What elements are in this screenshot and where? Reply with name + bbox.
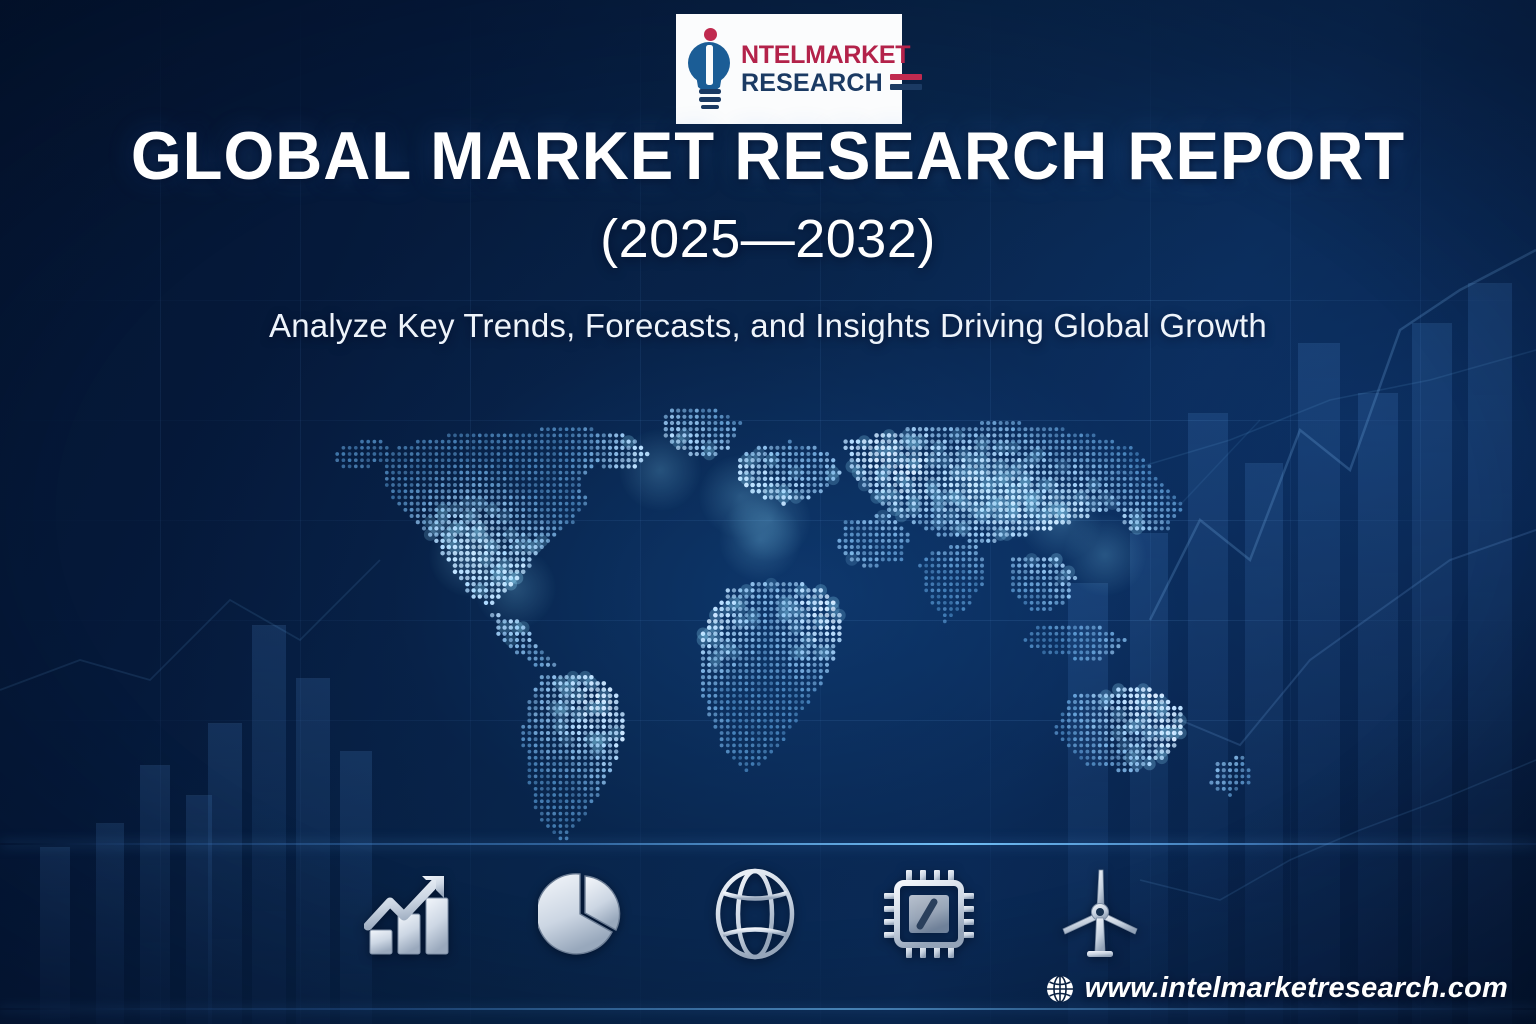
logo-line1: NTELMARKET xyxy=(741,43,922,68)
lightbulb-icon xyxy=(684,27,736,111)
pie-chart-icon xyxy=(528,866,638,962)
bottom-glow-line xyxy=(0,1008,1536,1010)
logo-line2: RESEARCH xyxy=(741,71,883,96)
website-url-text: www.intelmarketresearch.com xyxy=(1085,972,1508,1005)
growth-bar-chart-icon xyxy=(355,866,465,962)
forecast-period: (2025—2032) xyxy=(0,212,1536,266)
page-tagline: Analyze Key Trends, Forecasts, and Insig… xyxy=(0,306,1536,346)
globe-icon xyxy=(700,866,810,962)
website-url[interactable]: www.intelmarketresearch.com xyxy=(1046,972,1508,1005)
logo-accent-bars xyxy=(890,74,922,92)
wind-turbine-icon xyxy=(1045,866,1155,962)
feature-icon-row xyxy=(355,866,1155,962)
globe-icon xyxy=(1046,975,1074,1003)
report-cover: NTELMARKET RESEARCH GLOBAL MARKET RESEAR… xyxy=(0,0,1536,1024)
page-title: GLOBAL MARKET RESEARCH REPORT xyxy=(31,122,1506,190)
brand-logo[interactable]: NTELMARKET RESEARCH xyxy=(676,14,902,124)
microchip-icon xyxy=(873,866,983,962)
horizon-glow-line xyxy=(0,843,1536,845)
